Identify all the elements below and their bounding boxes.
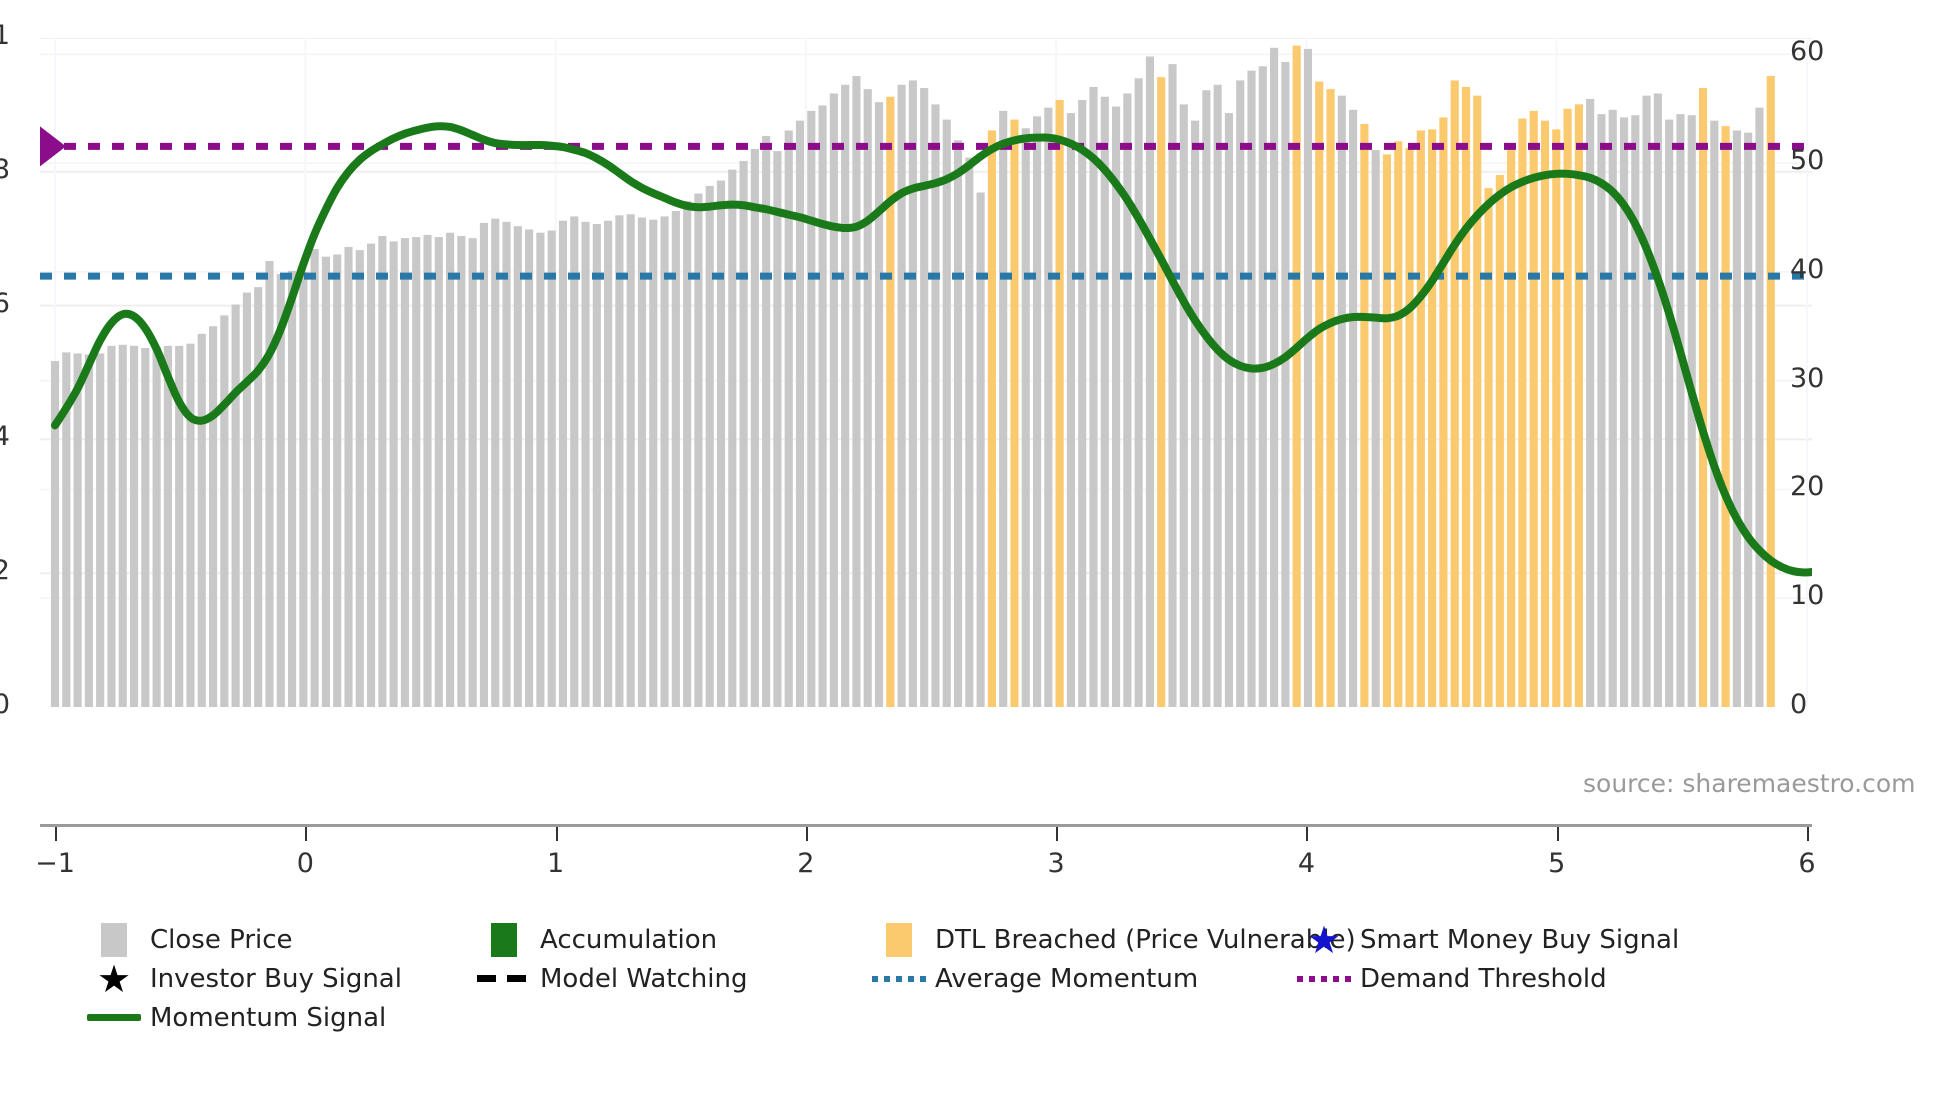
close-price-bar (288, 271, 296, 707)
accumulation-swatch (468, 923, 540, 957)
close-price-bar (423, 235, 431, 707)
x-axis-tick-label: 1 (516, 848, 596, 879)
close-price-bar (1112, 107, 1120, 707)
close-price-bar (1372, 150, 1380, 707)
y-axis-right-tick-label: 20 (1790, 471, 1880, 502)
close-price-bar (1191, 121, 1199, 707)
close-price-bar (841, 85, 849, 707)
x-axis-tick (1807, 827, 1809, 841)
close-price-bar (740, 161, 748, 707)
close-price-bar (920, 88, 928, 707)
close-price-bar (153, 347, 161, 707)
swatch-square-icon (101, 923, 127, 957)
close-price-bar (536, 233, 544, 707)
y-axis-left-tick-label: 0.2 (0, 555, 10, 586)
close-price-bar (1101, 97, 1109, 707)
dtl-breached-bar (1428, 129, 1436, 707)
legend-item-demand-threshold[interactable]: Demand Threshold (1288, 964, 1607, 994)
y-axis-right-tick-label: 10 (1790, 580, 1880, 611)
dtl-breached-bar (1564, 109, 1572, 707)
legend-row: Momentum Signal (78, 998, 1938, 1037)
plot-area (40, 38, 1812, 707)
close-price-bar (107, 346, 115, 707)
close-price-bar (243, 293, 251, 707)
close-price-bar (344, 247, 352, 707)
close-price-bar (51, 361, 59, 707)
close-price-bar (1643, 96, 1651, 707)
x-axis-tick-label: 0 (265, 848, 345, 879)
close-price-bar (254, 287, 262, 707)
dtl-breached-bar (1541, 121, 1549, 707)
legend-row: Close PriceAccumulationDTL Breached (Pri… (78, 920, 1938, 959)
close-price-bar (706, 186, 714, 707)
x-axis-tick-label: −1 (15, 848, 95, 879)
legend-label: Investor Buy Signal (150, 964, 402, 994)
close-price-bar (299, 272, 307, 707)
close-price-bar (762, 136, 770, 707)
y-axis-right-tick-label: 50 (1790, 145, 1880, 176)
dtl-breached-bar (1417, 130, 1425, 707)
close-price-bar (412, 237, 420, 707)
legend-label: Momentum Signal (150, 1003, 386, 1033)
close-price-bar (141, 348, 149, 707)
dtl-breached-bar (1360, 124, 1368, 707)
close-price-bar (378, 236, 386, 707)
x-axis-tick-label: 2 (766, 848, 846, 879)
close-price-bar (1089, 87, 1097, 707)
legend-item-dtl-breached[interactable]: DTL Breached (Price Vulnerable) (863, 923, 1356, 957)
dtl-breached-bar (1530, 111, 1538, 707)
y-axis-left-tick-label: 0.8 (0, 154, 10, 185)
close-price-bar (1214, 85, 1222, 707)
dtl-breached-bar (1394, 141, 1402, 707)
close-price-bar (390, 241, 398, 707)
dtl-breached-bar (1462, 87, 1470, 707)
legend-label: Accumulation (540, 925, 717, 955)
legend-label: Smart Money Buy Signal (1360, 925, 1679, 955)
swatch-square-icon (491, 923, 517, 957)
close-price-bar (1044, 108, 1052, 707)
close-price-bar (1281, 62, 1289, 707)
close-price-bar (322, 257, 330, 707)
dtl-breached-bar (1496, 175, 1504, 707)
dtl-breached-bar (1507, 146, 1515, 707)
momentum-signal-swatch (78, 1014, 150, 1021)
close-price-bar (164, 346, 172, 707)
legend-label: Demand Threshold (1360, 964, 1607, 994)
close-price-bar (773, 151, 781, 707)
close-price-bar (1744, 133, 1752, 707)
dtl-breached-bar (1699, 88, 1707, 707)
model-watching-swatch (468, 975, 540, 982)
swatch-dashed-line-icon (477, 975, 531, 982)
dtl-breached-bar (1157, 77, 1165, 707)
close-price-bar (1259, 66, 1267, 707)
x-axis-tick-label: 4 (1266, 848, 1346, 879)
star-icon: ★ (1307, 923, 1341, 957)
star-icon: ★ (97, 962, 131, 996)
close-price-bar (1135, 78, 1143, 707)
close-price-bar (807, 111, 815, 707)
close-price-bar (1225, 113, 1233, 707)
x-axis-tick (806, 827, 808, 841)
close-price-bar (525, 229, 533, 707)
close-price-bar (1247, 71, 1255, 707)
close-price-bar (694, 194, 702, 707)
dtl-breached-bar (1405, 148, 1413, 707)
close-price-bar (502, 222, 510, 707)
legend-label: Close Price (150, 925, 293, 955)
x-axis-tick (1306, 827, 1308, 841)
close-price-bar (1597, 114, 1605, 707)
source-attribution: source: sharemaestro.com (1583, 769, 1916, 798)
dtl-breached-bar (1552, 129, 1560, 707)
close-price-bar (311, 249, 319, 707)
chart-root: 00.20.40.60.81 0102030405060 −10123456 s… (0, 0, 1960, 1102)
close-price-bar (1202, 90, 1210, 707)
legend-item-close-price[interactable]: Close Price (78, 923, 293, 957)
close-price-bar (356, 250, 364, 707)
close-price-bar (74, 353, 82, 707)
swatch-square-icon (886, 923, 912, 957)
dtl-breached-bar (1010, 120, 1018, 707)
close-price-bar (1733, 130, 1741, 707)
close-price-bar (186, 344, 194, 707)
dtl-breached-bar (988, 130, 996, 707)
close-price-bar (367, 244, 375, 707)
average-momentum-swatch (863, 976, 935, 982)
legend-item-momentum-signal[interactable]: Momentum Signal (78, 1003, 386, 1033)
legend-item-average-momentum[interactable]: Average Momentum (863, 964, 1198, 994)
y-axis-left-tick-label: 0.6 (0, 288, 10, 319)
close-price-bar (1586, 99, 1594, 707)
y-axis-right-tick-label: 40 (1790, 254, 1880, 285)
investor-buy-swatch: ★ (78, 962, 150, 996)
dtl-breached-bar (1056, 100, 1064, 707)
dtl-breached-bar (1473, 96, 1481, 707)
close-price-bar (864, 89, 872, 707)
close-price-bar (931, 104, 939, 707)
dtl-breached-bar (1315, 82, 1323, 707)
close-price-bar (457, 236, 465, 707)
close-price-bar (1123, 93, 1131, 707)
close-price-bar (1078, 100, 1086, 707)
dtl-breached-bar (1575, 104, 1583, 707)
close-price-bar (469, 238, 477, 707)
close-price-bar (796, 121, 804, 707)
legend-item-model-watching[interactable]: Model Watching (468, 964, 747, 994)
close-price-bar (209, 326, 217, 707)
legend-item-smart-money[interactable]: ★Smart Money Buy Signal (1288, 923, 1679, 957)
chart-canvas (40, 38, 1812, 707)
x-axis-tick (55, 827, 57, 841)
close-price-bar (943, 120, 951, 707)
legend-item-accumulation[interactable]: Accumulation (468, 923, 717, 957)
x-axis-tick-label: 6 (1767, 848, 1847, 879)
close-price-bar (220, 315, 228, 707)
close-price-bar (198, 334, 206, 707)
close-price-bar (1654, 93, 1662, 707)
y-axis-right-tick-label: 30 (1790, 363, 1880, 394)
demand-threshold-marker (40, 126, 66, 166)
dtl-breached-bar (1767, 76, 1775, 707)
x-axis-tick (1056, 827, 1058, 841)
close-price-bar (232, 305, 240, 707)
dtl-breached-bar (1326, 89, 1334, 707)
close-price-bar (96, 353, 104, 707)
close-price-bar (480, 223, 488, 707)
close-price-bar (909, 80, 917, 707)
close-price-bar (401, 238, 409, 707)
close-price-bar (649, 220, 657, 707)
close-price-swatch (78, 923, 150, 957)
demand-threshold-swatch (1288, 976, 1360, 982)
close-price-bar (1067, 113, 1075, 707)
smart-money-swatch: ★ (1288, 923, 1360, 957)
close-price-bar (898, 85, 906, 707)
close-price-bar (977, 192, 985, 707)
swatch-solid-line-icon (87, 1014, 141, 1021)
close-price-bar (615, 215, 623, 707)
close-price-bar (1338, 96, 1346, 707)
close-price-bar (717, 181, 725, 708)
close-price-bar (660, 216, 668, 707)
dtl-breached-bar (1383, 154, 1391, 707)
close-price-bar (265, 261, 273, 707)
close-price-bar (1236, 80, 1244, 707)
close-price-bar (627, 214, 635, 707)
close-price-bar (672, 211, 680, 707)
close-price-bar (965, 158, 973, 707)
dtl-breached-bar (1722, 126, 1730, 707)
x-axis-tick-label: 5 (1517, 848, 1597, 879)
close-price-bar (1304, 49, 1312, 707)
y-axis-right-tick-label: 60 (1790, 36, 1880, 67)
close-price-bar (1665, 120, 1673, 707)
close-price-bar (1349, 110, 1357, 707)
chart-legend: Close PriceAccumulationDTL Breached (Pri… (78, 920, 1938, 1037)
dtl-breached-bar (1439, 117, 1447, 707)
dtl-breached-bar (886, 97, 894, 707)
dtl-breached-bar (1485, 188, 1493, 707)
close-price-bar (728, 170, 736, 707)
x-axis-tick (1557, 827, 1559, 841)
swatch-dotted-line-icon (872, 976, 926, 982)
close-price-bar (1755, 108, 1763, 707)
close-price-bar (852, 76, 860, 707)
close-price-bar (446, 233, 454, 707)
close-price-bar (1022, 128, 1030, 707)
close-price-bar (751, 149, 759, 707)
legend-row: ★Investor Buy SignalModel WatchingAverag… (78, 959, 1938, 998)
y-axis-left-tick-label: 1 (0, 20, 10, 51)
dtl-breached-bar (1451, 80, 1459, 707)
close-price-bar (999, 111, 1007, 707)
close-price-bar (514, 226, 522, 707)
close-price-bar (1676, 114, 1684, 707)
x-axis-tick (556, 827, 558, 841)
close-price-bar (1033, 116, 1041, 707)
legend-label: Model Watching (540, 964, 747, 994)
swatch-dotted-line-icon (1297, 976, 1351, 982)
close-price-bar (1146, 56, 1154, 707)
close-price-bar (491, 219, 499, 707)
close-price-bar (130, 346, 138, 707)
close-price-bar (1168, 64, 1176, 707)
legend-label: Average Momentum (935, 964, 1198, 994)
y-axis-left-tick-label: 0 (0, 689, 10, 720)
close-price-bar (954, 140, 962, 707)
dtl-breached-bar (1518, 119, 1526, 708)
close-price-bar (1631, 115, 1639, 707)
x-axis-tick-label: 3 (1016, 848, 1096, 879)
close-price-bar (581, 222, 589, 707)
dtl-breached-swatch (863, 923, 935, 957)
y-axis-right-tick-label: 0 (1790, 689, 1880, 720)
close-price-bar (875, 102, 883, 707)
close-price-bar (119, 345, 127, 707)
close-price-bar (85, 355, 93, 707)
close-price-bar (830, 93, 838, 707)
close-price-bar (435, 237, 443, 707)
close-price-bar (559, 221, 567, 707)
legend-item-investor-buy[interactable]: ★Investor Buy Signal (78, 962, 402, 996)
close-price-bar (333, 254, 341, 707)
close-price-bar (593, 224, 601, 707)
y-axis-left-tick-label: 0.4 (0, 421, 10, 452)
close-price-bar (1180, 104, 1188, 707)
close-price-bar (1710, 121, 1718, 707)
close-price-bar (570, 216, 578, 707)
close-price-bar (548, 231, 556, 707)
x-axis-tick (305, 827, 307, 841)
close-price-bar (604, 221, 612, 707)
close-price-bar (638, 217, 646, 707)
close-price-bar (819, 105, 827, 707)
